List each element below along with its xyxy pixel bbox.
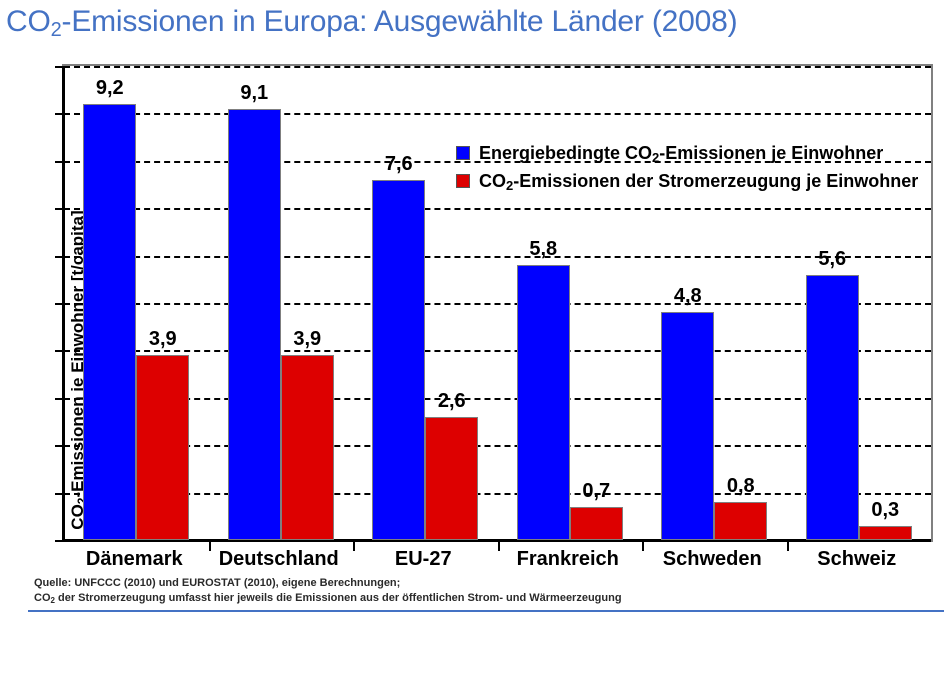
bar-energiebedingte[interactable]: [228, 109, 281, 540]
red-square-icon: [456, 174, 470, 188]
bar-energiebedingte[interactable]: [372, 180, 425, 540]
bar-stromerzeugung[interactable]: [714, 502, 767, 540]
legend-item-label: Energiebedingte CO2-Emissionen je Einwoh…: [479, 143, 883, 164]
x-axis-category-label: Schweden: [640, 548, 785, 571]
y-axis-tick-mark: [55, 66, 64, 68]
bar-value-label: 3,9: [267, 329, 348, 349]
gridline: [64, 113, 931, 115]
x-axis-category-label: Deutschland: [207, 548, 352, 571]
bar-value-label: 0,8: [700, 476, 781, 496]
y-axis-tick-mark: [55, 303, 64, 305]
x-axis-category-label: Frankreich: [496, 548, 641, 571]
bar-stromerzeugung[interactable]: [570, 507, 623, 540]
y-axis-tick-mark: [55, 208, 64, 210]
y-axis-tick-mark: [55, 113, 64, 115]
bar-energiebedingte[interactable]: [661, 312, 714, 540]
y-axis-tick-mark: [55, 256, 64, 258]
legend-label-pre: CO: [479, 171, 506, 191]
y-axis-tick-mark: [55, 445, 64, 447]
legend-label-post: -Emissionen der Stromerzeugung je Einwoh…: [513, 171, 918, 191]
bar-value-label: 9,1: [214, 83, 295, 103]
y-axis-tick-mark: [55, 540, 64, 542]
bar-value-label: 0,7: [556, 481, 637, 501]
bar-value-label: 5,8: [503, 239, 584, 259]
bar-value-label: 4,8: [647, 286, 728, 306]
footnote-text-pre: Quelle: UNFCCC (2010) und EUROSTAT (2010…: [34, 577, 400, 589]
legend-label-subscript: 2: [652, 150, 659, 165]
page-title-pre: CO: [6, 5, 51, 38]
x-axis-category-label: EU-27: [351, 548, 496, 571]
legend-label-post: -Emissionen je Einwohner: [659, 143, 883, 163]
chart-legend: Energiebedingte CO2-Emissionen je Einwoh…: [456, 140, 944, 196]
bar-value-label: 3,9: [122, 329, 203, 349]
bar-energiebedingte[interactable]: [83, 104, 136, 540]
gridline: [64, 303, 931, 305]
gridline: [64, 350, 931, 352]
page-title: CO2-Emissionen in Europa: Ausgewählte Lä…: [6, 2, 944, 42]
footnote-text-pre: CO: [34, 592, 51, 604]
bar-stromerzeugung[interactable]: [136, 355, 189, 540]
legend-item-stromerzeugung: CO2-Emissionen der Stromerzeugung je Ein…: [456, 168, 944, 194]
gridline: [64, 66, 931, 68]
legend-item-label: CO2-Emissionen der Stromerzeugung je Ein…: [479, 171, 918, 192]
footnote-block: Quelle: UNFCCC (2010) und EUROSTAT (2010…: [34, 576, 934, 606]
y-axis-tick-mark: [55, 493, 64, 495]
bar-stromerzeugung[interactable]: [425, 417, 478, 540]
bar-value-label: 5,6: [792, 249, 873, 269]
footnote-source: Quelle: UNFCCC (2010) und EUROSTAT (2010…: [34, 576, 934, 591]
footnote-subscript: 2: [51, 596, 55, 605]
footnote-text-post: der Stromerzeugung umfasst hier jeweils …: [55, 592, 622, 604]
page-title-post: -Emissionen in Europa: Ausgewählte Lände…: [62, 5, 738, 38]
y-axis-tick-mark: [55, 161, 64, 163]
gridline: [64, 208, 931, 210]
x-axis-category-label: Schweiz: [785, 548, 930, 571]
legend-label-subscript: 2: [506, 178, 513, 193]
chart-plot-area: CO2-Emissionen je Einwohner [t/capita] 0…: [64, 66, 931, 540]
bar-stromerzeugung[interactable]: [281, 355, 334, 540]
gridline: [64, 398, 931, 400]
blue-square-icon: [456, 146, 470, 160]
legend-label-pre: Energiebedingte CO: [479, 143, 652, 163]
footnote-definition: CO2 der Stromerzeugung umfasst hier jewe…: [34, 591, 934, 606]
bar-value-label: 2,6: [411, 391, 492, 411]
bar-value-label: 7,6: [358, 154, 439, 174]
x-axis-category-label: Dänemark: [62, 548, 207, 571]
chart-plot-frame: CO2-Emissionen je Einwohner [t/capita] 0…: [62, 64, 933, 542]
bottom-divider: [28, 610, 944, 612]
y-axis-tick-mark: [55, 398, 64, 400]
gridline: [64, 493, 931, 495]
y-axis-tick-mark: [55, 350, 64, 352]
bar-value-label: 0,3: [845, 500, 926, 520]
gridline: [64, 445, 931, 447]
bar-value-label: 9,2: [69, 78, 150, 98]
bar-stromerzeugung[interactable]: [859, 526, 912, 540]
legend-item-energiebedingte: Energiebedingte CO2-Emissionen je Einwoh…: [456, 140, 944, 166]
page-title-subscript: 2: [51, 19, 62, 41]
